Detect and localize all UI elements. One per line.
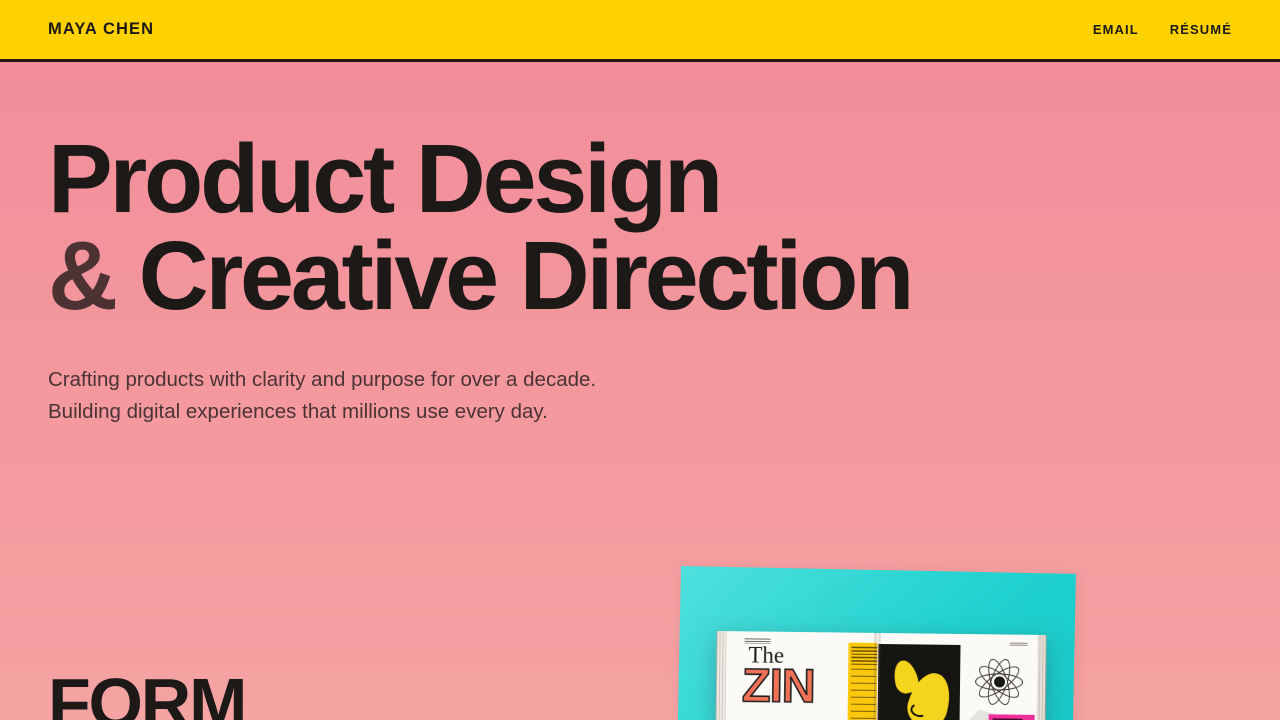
atom-diagram-icon — [973, 658, 1026, 705]
magazine-photo-composition: The ZIN — [660, 548, 1100, 720]
magazine-zine-title: ZIN — [742, 661, 815, 709]
hero-subtitle-line-2: Building digital experiences that millio… — [48, 400, 548, 423]
main-nav: EMAIL RÉSUMÉ — [1093, 22, 1232, 37]
hero-title-ampersand: & — [48, 221, 115, 330]
section-heading-form: FORM — [48, 668, 245, 720]
magazine-black-art-panel — [877, 644, 960, 720]
site-header: MAYA CHEN EMAIL RÉSUMÉ — [0, 0, 1280, 62]
atom-nucleus — [994, 676, 1005, 687]
hero-title-line-1: Product Design — [48, 124, 720, 233]
page-title: Product Design & Creative Direction — [0, 131, 1280, 324]
nav-link-resume[interactable]: RÉSUMÉ — [1170, 22, 1232, 37]
open-magazine: The ZIN — [715, 631, 1046, 720]
nav-link-email[interactable]: EMAIL — [1093, 22, 1139, 37]
magazine-right-page — [876, 633, 1037, 720]
hero-title-line-2: Creative Direction — [139, 221, 912, 330]
hero-subtitle-line-1: Crafting products with clarity and purpo… — [48, 368, 596, 391]
magazine-left-page: The ZIN — [724, 631, 877, 720]
magenta-sticky-note — [988, 714, 1034, 720]
magazine-right-page-edge — [1036, 635, 1046, 720]
hero-subtitle: Crafting products with clarity and purpo… — [0, 364, 1280, 429]
brand-name: MAYA CHEN — [48, 20, 154, 39]
magazine-spine — [873, 633, 880, 720]
magazine-page-number-mark — [1010, 643, 1028, 647]
hero-section: Product Design & Creative Direction Craf… — [0, 62, 1280, 429]
magazine-sidebar-body-lines — [850, 669, 876, 720]
